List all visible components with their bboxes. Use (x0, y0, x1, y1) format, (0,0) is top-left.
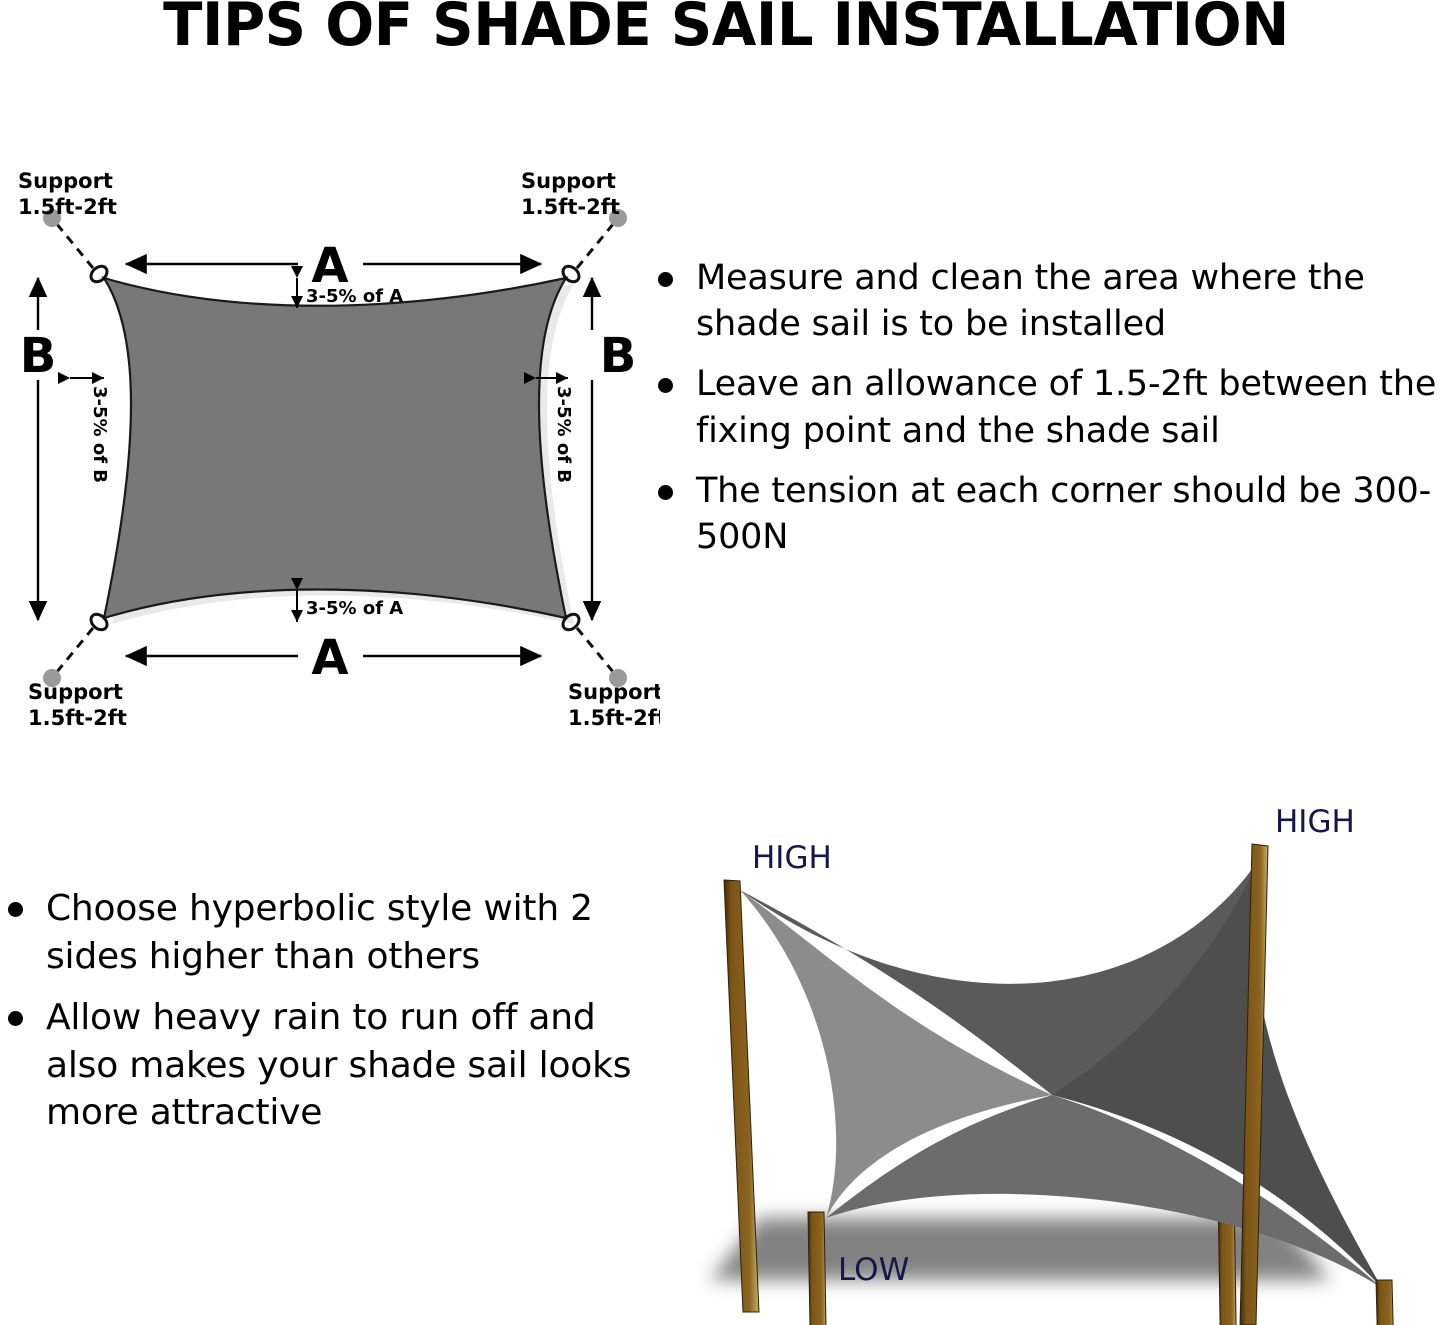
list-item: The tension at each corner should be 300… (650, 468, 1452, 560)
support-label-bottom-right: Support 1.5ft-2ft (568, 680, 660, 730)
support-label-top-left: Support 1.5ft-2ft (18, 169, 117, 219)
support-label-bottom-right-line1: Support (568, 680, 660, 704)
pole-high-left (724, 880, 759, 1312)
tips-left-list: Choose hyperbolic style with 2 sides hig… (0, 885, 640, 1137)
tip-text: Allow heavy rain to run off and also mak… (46, 997, 631, 1133)
support-label-top-right-line2: 1.5ft-2ft (521, 195, 620, 219)
dimension-a-bottom: A (126, 630, 541, 686)
tips-right-list: Measure and clean the area where the sha… (650, 255, 1452, 560)
hyperbolic-sail-svg: HIGH HIGH LOW LOW (640, 780, 1452, 1325)
dimension-b-left: B (20, 278, 57, 620)
list-item: Leave an allowance of 1.5-2ft between th… (650, 361, 1452, 453)
ground-shadow (710, 1218, 1330, 1280)
curvature-top-label: 3-5% of A (306, 286, 403, 307)
sail-fabric (104, 278, 566, 618)
bullet-icon (658, 485, 673, 500)
dimension-b-right-label: B (600, 328, 637, 384)
rect-sail-svg: Support 1.5ft-2ft Support 1.5ft-2ft Supp… (0, 150, 660, 740)
pole-low-left (808, 1212, 827, 1325)
label-high-right: HIGH (1275, 804, 1355, 840)
bullet-icon (658, 272, 673, 287)
curvature-right-label: 3-5% of B (553, 386, 574, 483)
tip-text: Choose hyperbolic style with 2 sides hig… (46, 888, 593, 977)
installation-tips-right-panel: Measure and clean the area where the sha… (650, 255, 1452, 675)
support-label-top-right: Support 1.5ft-2ft (521, 169, 620, 219)
dimension-a-bottom-label: A (311, 630, 348, 686)
dimension-b-left-label: B (20, 328, 57, 384)
curvature-bottom-label: 3-5% of A (306, 598, 403, 619)
support-label-bottom-left-line1: Support (28, 680, 123, 704)
tip-text: Measure and clean the area where the sha… (696, 258, 1365, 344)
curvature-left-label: 3-5% of B (89, 386, 110, 483)
pole-low-right (1376, 1280, 1395, 1325)
dimension-b-right: B (592, 278, 636, 620)
label-high-left: HIGH (752, 840, 832, 876)
rectangular-sail-diagram: Support 1.5ft-2ft Support 1.5ft-2ft Supp… (0, 150, 660, 740)
curvature-left: 3-5% of B (70, 378, 110, 483)
support-label-bottom-left: Support 1.5ft-2ft (28, 680, 127, 730)
tip-text: Leave an allowance of 1.5-2ft between th… (696, 364, 1436, 450)
bullet-icon (8, 1011, 23, 1026)
list-item: Measure and clean the area where the sha… (650, 255, 1452, 347)
support-label-bottom-left-line2: 1.5ft-2ft (28, 706, 127, 730)
support-label-top-left-line1: Support (18, 169, 113, 193)
label-low-left: LOW (838, 1252, 909, 1288)
support-label-top-left-line2: 1.5ft-2ft (18, 195, 117, 219)
support-label-bottom-right-line2: 1.5ft-2ft (568, 706, 660, 730)
bullet-icon (8, 902, 23, 917)
tip-text: The tension at each corner should be 300… (696, 471, 1431, 557)
hyperbolic-sail-panel: HIGH HIGH LOW LOW (640, 780, 1452, 1325)
page-title: TIPS OF SHADE SAIL INSTALLATION (29, 0, 1423, 57)
support-label-top-right-line1: Support (521, 169, 616, 193)
list-item: Allow heavy rain to run off and also mak… (0, 994, 640, 1137)
installation-tips-left-panel: Choose hyperbolic style with 2 sides hig… (0, 885, 640, 1255)
list-item: Choose hyperbolic style with 2 sides hig… (0, 885, 640, 980)
bullet-icon (658, 378, 673, 393)
